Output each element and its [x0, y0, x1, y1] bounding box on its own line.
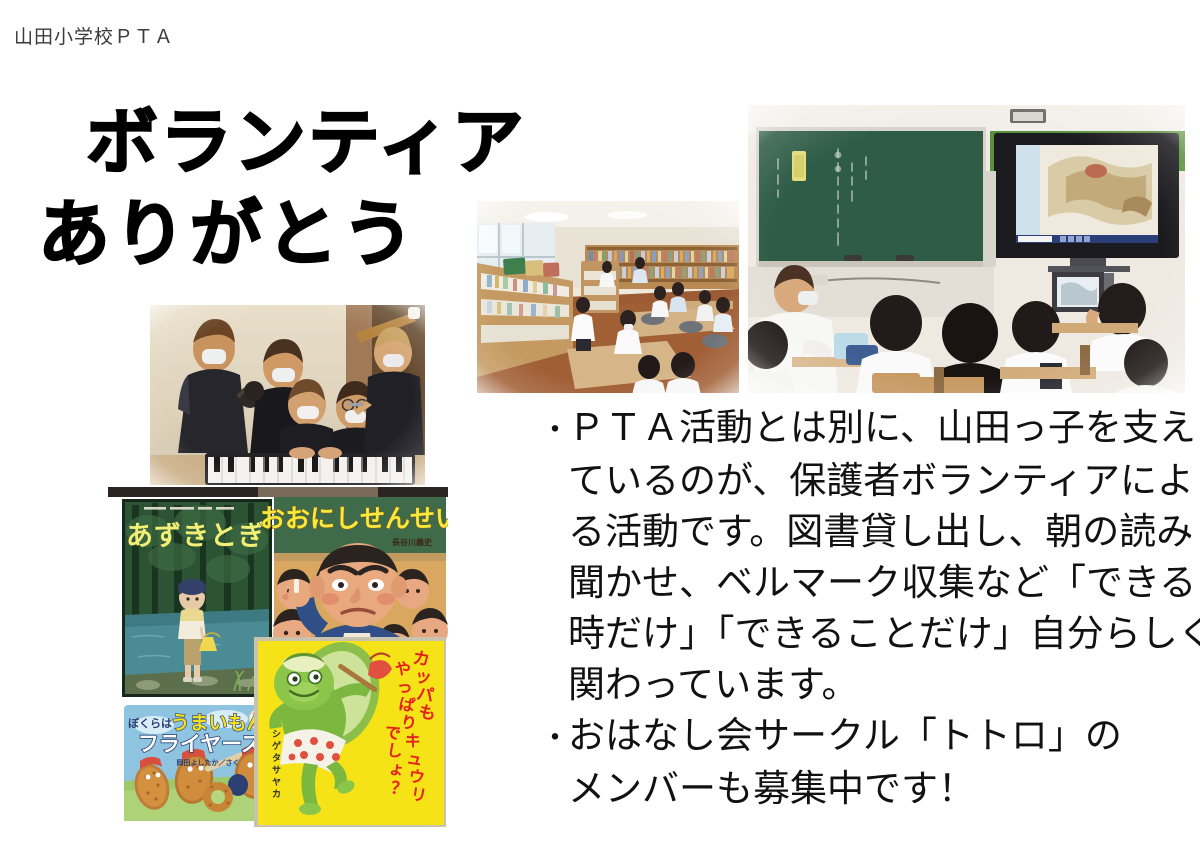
svg-text:岡田よしたか／さく: 岡田よしたか／さく	[177, 758, 240, 767]
svg-text:ぼくらは: ぼくらは	[128, 717, 172, 730]
svg-text:タ: タ	[272, 752, 281, 764]
photo-picture-books-image: あずきとぎ	[108, 487, 448, 832]
photo-classroom-reading	[748, 105, 1185, 393]
bullet-line: 時だけ」「できることだけ」自分らしく	[540, 609, 1180, 660]
bullet-text: ＰＴＡ活動とは別に、山田っ子を支え	[568, 408, 1196, 449]
bullet-paragraph-1: ・ＰＴＡ活動とは別に、山田っ子を支え ているのが、保護者ボランティアによ る活動…	[540, 403, 1180, 711]
svg-text:？: ？	[389, 778, 409, 800]
photo-picture-books: あずきとぎ	[108, 487, 448, 832]
svg-text:も: も	[417, 702, 437, 724]
photo-school-library-image	[477, 201, 739, 393]
svg-text:シ: シ	[272, 729, 281, 740]
svg-text:あずきとぎ: あずきとぎ	[126, 521, 266, 552]
svg-text:ヤ: ヤ	[272, 777, 281, 788]
svg-text:サ: サ	[272, 765, 281, 776]
bullet-line: る活動です。図書貸し出し、朝の読み	[540, 507, 1180, 558]
bullet-line: 関わっています。	[540, 660, 1180, 711]
bullet-text: おはなし会サークル「トトロ」の	[568, 716, 1122, 757]
bullet-marker: ・	[540, 713, 568, 764]
book-cover-kappa-kyuri: カ ッ パ も や っ ぱ り キ ュ ウ リ で し ょ ？	[254, 631, 446, 827]
bullet-line: ているのが、保護者ボランティアによ	[540, 456, 1180, 507]
svg-text:うまいもん: うまいもん	[170, 712, 265, 734]
photo-volunteer-group-image	[150, 305, 425, 485]
svg-text:おおにしせんせい: おおにしせんせい	[260, 504, 448, 533]
svg-text:長谷川義史: 長谷川義史	[392, 537, 433, 547]
bullet-line: ・おはなし会サークル「トトロ」の	[540, 711, 1180, 764]
photo-classroom-reading-image	[748, 105, 1185, 393]
bullet-paragraph-2: ・おはなし会サークル「トトロ」の メンバーも募集中です！	[540, 711, 1180, 815]
title-line-1: ボランティア	[86, 96, 556, 188]
photo-volunteer-group	[150, 305, 425, 485]
photo-school-library	[477, 201, 739, 393]
bullet-marker: ・	[540, 405, 568, 456]
svg-text:フライヤーズ: フライヤーズ	[138, 732, 262, 756]
presentation-slide: 山田小学校ＰＴＡ ボランティア ありがとう	[0, 0, 1200, 848]
book-cover-azukitogi: あずきとぎ	[122, 499, 272, 697]
svg-text:リ: リ	[409, 784, 428, 805]
svg-text:カ: カ	[272, 789, 281, 800]
organization-header: 山田小学校ＰＴＡ	[14, 22, 174, 49]
bullet-line: ・ＰＴＡ活動とは別に、山田っ子を支え	[540, 403, 1180, 456]
bullet-line: 聞かせ、ベルマーク収集など「できる	[540, 558, 1180, 609]
svg-text:ょ: ょ	[387, 758, 406, 779]
svg-text:ゲ: ゲ	[272, 740, 281, 752]
body-text: ・ＰＴＡ活動とは別に、山田っ子を支え ているのが、保護者ボランティアによ る活動…	[540, 403, 1180, 815]
bullet-line: メンバーも募集中です！	[540, 764, 1180, 815]
